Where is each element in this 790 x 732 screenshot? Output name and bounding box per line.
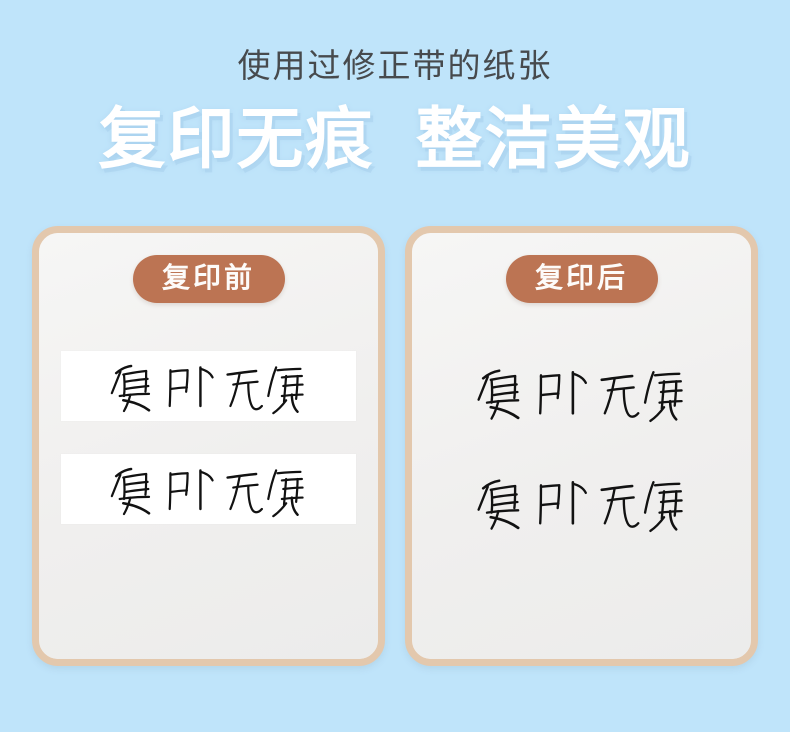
handwriting-line	[434, 360, 729, 424]
correction-tape-strip	[61, 351, 356, 421]
card-after-copy: 复印后	[405, 226, 758, 666]
promo-banner: 使用过修正带的纸张 复印无痕 整洁美观 复印前	[0, 0, 790, 732]
header: 使用过修正带的纸张 复印无痕 整洁美观	[0, 0, 790, 179]
subtitle: 使用过修正带的纸张	[0, 0, 790, 86]
page-title: 复印无痕 整洁美观	[0, 86, 790, 179]
handwriting-row	[434, 467, 729, 537]
handwriting-row	[434, 357, 729, 427]
badge-after-copy: 复印后	[506, 255, 658, 303]
handwriting-lines-before	[39, 351, 378, 557]
handwriting-line	[61, 356, 356, 416]
comparison-cards: 复印前	[32, 226, 758, 666]
handwriting-line	[61, 459, 356, 519]
handwriting-line	[434, 470, 729, 534]
badge-before-copy: 复印前	[133, 255, 285, 303]
card-before-copy: 复印前	[32, 226, 385, 666]
handwriting-lines-after	[412, 357, 751, 577]
correction-tape-strip	[61, 454, 356, 524]
